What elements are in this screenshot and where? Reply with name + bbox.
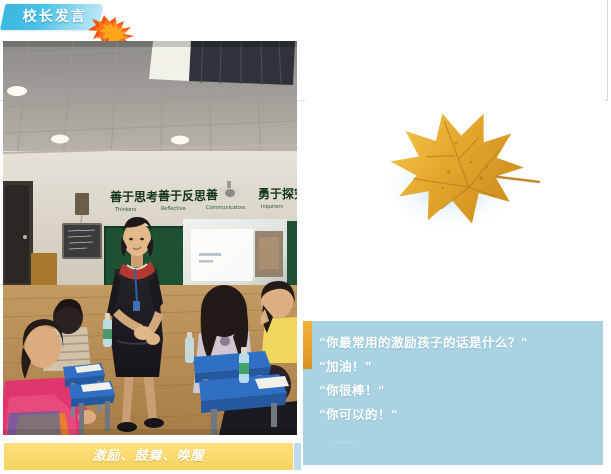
classroom-presentation-photo: 善于思考 善于反思 善 勇于探究 Thinkers Reflective Com…: [3, 41, 297, 435]
quote-box: "你最常用的激励孩子的话是什么？" "加油！" "你很棒！" "你可以的！" ……: [303, 321, 603, 465]
svg-text:Inquirers: Inquirers: [261, 204, 283, 210]
golden-maple-leaf-image: [305, 36, 605, 308]
svg-text:Communicators: Communicators: [206, 205, 246, 211]
photo-caption-bar: 激励、鼓舞、唤醒: [4, 443, 293, 470]
quote-accent-bar: [303, 321, 312, 369]
quote-line-ellipsis: ……: [319, 427, 593, 451]
caption-bar-tail: [294, 443, 301, 470]
quote-line-4: "你可以的！": [319, 403, 593, 427]
svg-text:善于思考: 善于思考: [110, 189, 158, 204]
svg-text:勇于探究: 勇于探究: [258, 186, 297, 201]
svg-text:Reflective: Reflective: [161, 206, 186, 212]
quote-line-1: "你最常用的激励孩子的话是什么？": [319, 331, 593, 355]
svg-text:Thinkers: Thinkers: [114, 207, 137, 213]
quote-lines: "你最常用的激励孩子的话是什么？" "加油！" "你很棒！" "你可以的！" ……: [319, 331, 593, 451]
photo-caption-label: 激励、鼓舞、唤醒: [4, 443, 293, 470]
quote-line-2: "加油！": [319, 355, 593, 379]
svg-text:善于反思: 善于反思: [158, 188, 206, 203]
svg-text:善: 善: [206, 187, 218, 202]
quote-line-3: "你很棒！": [319, 379, 593, 403]
